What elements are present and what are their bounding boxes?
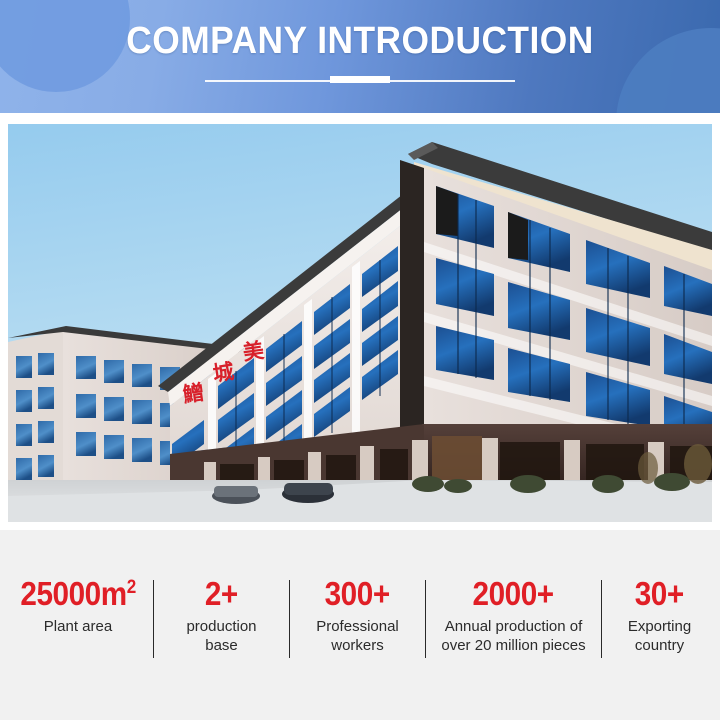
svg-text:鱛: 鱛 — [181, 380, 205, 407]
stat-value: 30+ — [635, 576, 684, 612]
stat-value: 2+ — [205, 576, 238, 612]
stat-label: Professional workers — [316, 617, 399, 655]
stat-value: 25000m2 — [20, 576, 135, 612]
factory-building-illustration: 鱛 城 美 — [8, 124, 712, 522]
company-stats-bar: 25000m2 Plant area 2+ production base 30… — [0, 530, 720, 720]
title-underline-center-mark — [330, 76, 390, 83]
factory-building-photo: 鱛 城 美 — [8, 124, 712, 522]
stat-value: 2000+ — [473, 576, 554, 612]
stat-annual-production: 2000+ Annual production of over 20 milli… — [426, 576, 601, 655]
stat-label: Plant area — [44, 617, 112, 636]
page-title: COMPANY INTRODUCTION — [25, 20, 695, 63]
stat-label: production base — [186, 617, 256, 655]
stats-row: 25000m2 Plant area 2+ production base 30… — [0, 576, 720, 658]
svg-text:美: 美 — [241, 338, 265, 365]
stat-label: Annual production of over 20 million pie… — [441, 617, 585, 655]
company-introduction-page: COMPANY INTRODUCTION — [0, 0, 720, 720]
svg-text:城: 城 — [211, 359, 235, 386]
page-header-banner: COMPANY INTRODUCTION — [0, 0, 720, 113]
stat-production-base: 2+ production base — [154, 576, 289, 655]
stat-professional-workers: 300+ Professional workers — [290, 576, 425, 655]
stat-exporting-country: 30+ Exporting country — [602, 576, 717, 655]
stat-label: Exporting country — [628, 617, 691, 655]
stat-value: 300+ — [325, 576, 390, 612]
stat-plant-area: 25000m2 Plant area — [3, 576, 153, 636]
